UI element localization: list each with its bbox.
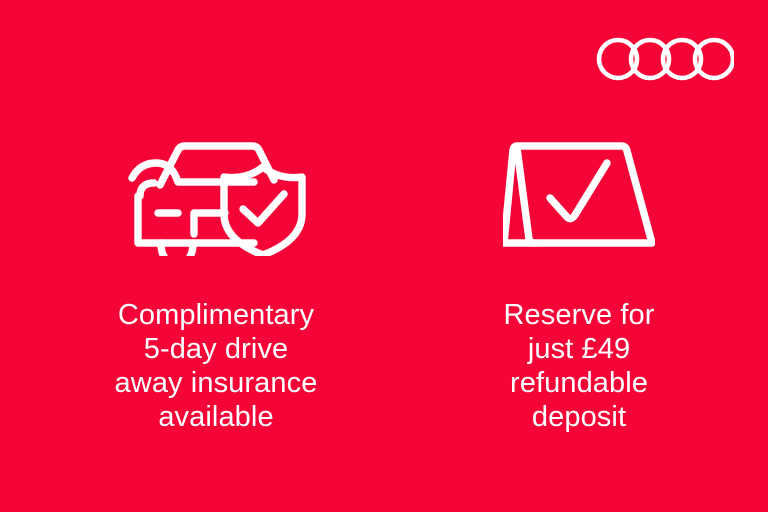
feature-deposit-line-2: just £49 (504, 332, 655, 366)
feature-insurance-line-4: available (115, 400, 318, 434)
promo-banner: Complimentary 5-day drive away insurance… (0, 0, 768, 512)
feature-insurance-text: Complimentary 5-day drive away insurance… (115, 298, 318, 434)
car-shield-icon (126, 130, 306, 261)
feature-deposit-line-4: deposit (504, 400, 655, 434)
tent-card-check-icon (503, 135, 655, 256)
car-shield-icon-wrap (126, 130, 306, 260)
feature-deposit: Reserve for just £49 refundable deposit (409, 130, 749, 434)
feature-deposit-line-1: Reserve for (504, 298, 655, 332)
tent-card-check-icon-wrap (503, 130, 655, 260)
feature-insurance-line-2: 5-day drive (115, 332, 318, 366)
feature-deposit-line-3: refundable (504, 366, 655, 400)
feature-insurance-line-3: away insurance (115, 366, 318, 400)
feature-insurance-line-1: Complimentary (115, 298, 318, 332)
audi-four-rings-logo (596, 36, 734, 82)
feature-deposit-text: Reserve for just £49 refundable deposit (504, 298, 655, 434)
feature-insurance: Complimentary 5-day drive away insurance… (46, 130, 386, 434)
